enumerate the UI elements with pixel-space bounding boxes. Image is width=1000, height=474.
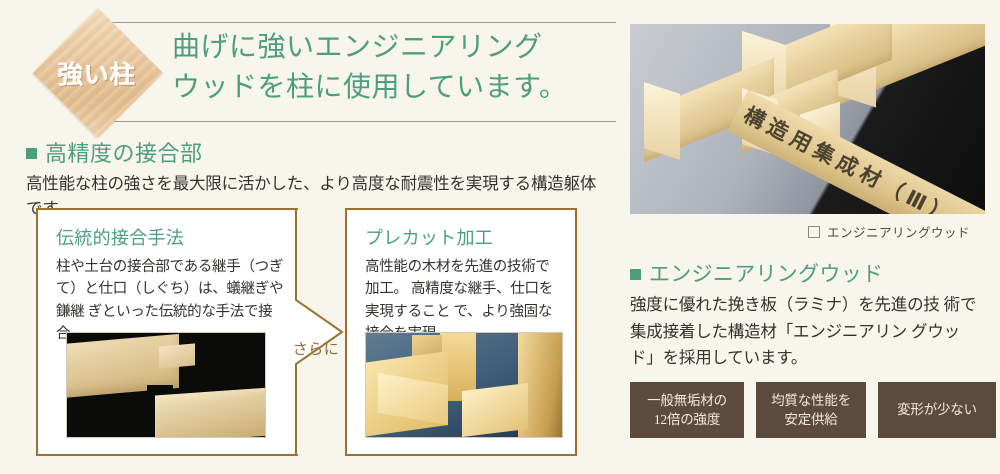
square-bullet-icon: [26, 148, 37, 159]
wood-piece: [155, 386, 266, 438]
header-rule-top: [100, 22, 616, 23]
connector-label: さらに: [290, 338, 342, 359]
wood-beam-face: [644, 82, 680, 160]
left-column: 強い柱 曲げに強いエンジニアリング ウッドを柱に使用しています。 高精度の接合部…: [0, 0, 622, 474]
feature-box: 均質な性能を 安定供給: [756, 382, 866, 438]
card-traditional-joint: 伝統的接合手法 柱や土台の接合部である継手（つぎ て）と仕口（しぐち）は、蟻継ぎ…: [36, 208, 298, 456]
feature-box: 変形が少ない: [878, 382, 996, 438]
headline-line-1: 曲げに強いエンジニアリング: [172, 28, 612, 68]
joint-cards-row: 伝統的接合手法 柱や土台の接合部である継手（つぎ て）と仕口（しぐち）は、蟻継ぎ…: [0, 208, 622, 468]
engineering-wood-description: 強度に優れた挽き板（ラミナ）を先進の技 術で集成接着した構造材「エンジニアリン …: [630, 292, 982, 372]
promo-page: 強い柱 曲げに強いエンジニアリング ウッドを柱に使用しています。 高精度の接合部…: [0, 0, 1000, 474]
section-heading-joints: 高精度の接合部: [26, 136, 203, 168]
card-title: プレカット加工: [365, 224, 493, 250]
photo-caption-label: エンジニアリングウッド: [827, 222, 970, 241]
section-heading-engineering-wood: エンジニアリングウッド: [630, 258, 883, 288]
engineering-wood-photo: 構造用集成材（Ⅲ）: [630, 24, 985, 214]
strong-pillar-badge: 強い柱: [31, 17, 163, 129]
traditional-joint-photo: [66, 332, 266, 438]
feature-line-1: 均質な性能を: [765, 391, 857, 410]
right-column: 構造用集成材（Ⅲ） エンジニアリングウッド エンジニアリングウッド 強度に優れた…: [622, 0, 1000, 474]
chevron-arrow-icon: [296, 208, 344, 456]
badge-label: 強い柱: [31, 17, 163, 129]
section-heading-label: 高精度の接合部: [45, 136, 203, 168]
feature-line-2: 12倍の強度: [639, 410, 735, 429]
hollow-square-icon: [808, 226, 820, 238]
feature-box: 一般無垢材の 12倍の強度: [630, 382, 744, 438]
headline-line-2: ウッドを柱に使用しています。: [172, 68, 612, 108]
feature-boxes-row: 一般無垢材の 12倍の強度 均質な性能を 安定供給 変形が少ない: [630, 382, 996, 438]
header-rule-bottom: [100, 121, 616, 122]
feature-line-1: 一般無垢材の: [639, 391, 735, 410]
card-title: 伝統的接合手法: [56, 224, 184, 250]
precut-joint-photo: [365, 332, 563, 438]
card-precut-processing: プレカット加工 高性能の木材を先進の技術で加工。 高精度な継手、仕口を実現するこ…: [345, 208, 577, 456]
plank-stamp-text: 構造用集成材（Ⅲ）: [739, 99, 985, 214]
square-bullet-icon: [630, 269, 641, 280]
feature-line-1: 変形が少ない: [887, 400, 987, 419]
page-headline: 曲げに強いエンジニアリング ウッドを柱に使用しています。: [172, 28, 612, 108]
description-line-1: 強度に優れた挽き板（ラミナ）を先進の技: [630, 295, 940, 314]
wood-tenon: [159, 343, 195, 368]
section-heading-label: エンジニアリングウッド: [649, 258, 883, 288]
feature-line-2: 安定供給: [765, 410, 857, 429]
card-body-line-1: 柱や土台の接合部である継手（つぎ: [56, 259, 283, 275]
photo-caption: エンジニアリングウッド: [808, 222, 970, 241]
wood-piece: [462, 383, 528, 437]
